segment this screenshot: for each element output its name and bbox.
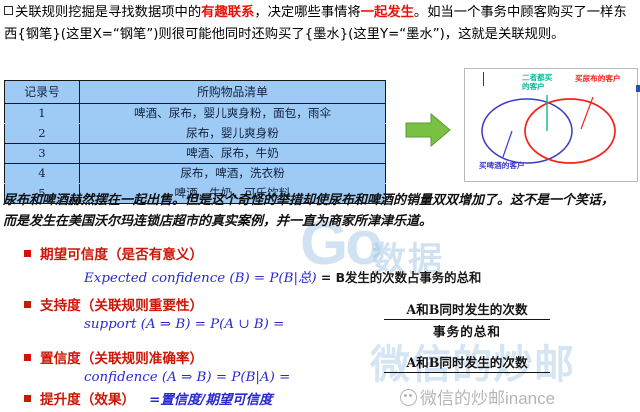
metric-heading: 支持度（关联规则重要性） [24, 294, 284, 314]
metric-block-support: 支持度（关联规则重要性） support (A ⇒ B) = P(A ∪ B) … [24, 294, 284, 332]
venn-label-beer: 买啤酒的客户 [479, 161, 525, 170]
watermark-face-icon [400, 389, 417, 406]
table-cell-items: 啤酒、尿布，牛奶 [80, 144, 386, 164]
metric-heading-label: 置信度（关联规则准确率） [40, 351, 203, 367]
metric-formula-text: support (A ⇒ B) = P(A ∪ B) = [84, 317, 284, 332]
metric-heading-label: 期望可信度（是否有意义） [40, 247, 203, 263]
venn-label-both-line2: 的客户 [522, 82, 545, 91]
table-cell-items: 尿布，啤酒，洗衣粉 [80, 164, 386, 184]
venn-label-both: 二者都买 的客户 [522, 73, 552, 91]
metric-heading: 置信度（关联规则准确率） [24, 347, 290, 367]
watermark-brand: 微信的炒邮inance [400, 384, 555, 409]
fraction-numerator: A和B同时发生的次数 [384, 352, 550, 373]
table-cell-id: 1 [5, 104, 80, 124]
table-cell-id: 4 [5, 164, 80, 184]
metric-block-confidence: 置信度（关联规则准确率） confidence (A ⇒ B) = P(B|A)… [24, 347, 290, 385]
metric-block-lift: 提升度（效果）=置信度/期望可信度 [24, 388, 272, 408]
table-header-record-id: 记录号 [5, 81, 80, 104]
fraction-denominator [384, 373, 550, 374]
solid-square-bullet-icon [24, 301, 31, 308]
table-row: 2 尿布，婴儿爽身粉 [5, 124, 386, 144]
venn-circle-diapers [525, 99, 615, 163]
table-row: 4 尿布，啤酒，洗衣粉 [5, 164, 386, 184]
fraction-support: A和B同时发生的次数 事务的总和 [384, 299, 550, 340]
metric-formula-tail: = B发生的次数占事务的总和 [321, 270, 481, 285]
table-header-items: 所购物品清单 [80, 81, 386, 104]
table-cell-items: 尿布，婴儿爽身粉 [80, 124, 386, 144]
intro-highlight-1: 有趣联系 [201, 5, 254, 20]
metric-formula: Expected confidence (B) = P(B|总) = B发生的次… [84, 266, 481, 286]
fraction-confidence: A和B同时发生的次数 [384, 352, 550, 374]
intro-text-part1: 关联规则挖掘是寻找数据项中的 [15, 5, 201, 20]
transactions-table: 记录号 所购物品清单 1 啤酒、尿布，婴儿爽身粉，面包，雨伞 2 尿布，婴儿爽身… [4, 80, 386, 204]
intro-highlight-2: 一起发生 [361, 5, 414, 20]
metric-formula-text: confidence (A ⇒ B) = P(B|A) = [84, 370, 290, 385]
venn-label-diapers: 买尿布的客户 [575, 74, 621, 83]
intro-text-part2: ，决定哪些事情将 [254, 5, 360, 20]
diagram-handle-dot [636, 85, 640, 92]
fraction-denominator: 事务的总和 [384, 320, 550, 340]
solid-square-bullet-icon [24, 395, 31, 402]
metric-formula: support (A ⇒ B) = P(A ∪ B) = [84, 317, 284, 332]
venn-label-both-line1: 二者都买 [522, 73, 552, 82]
table-cell-id: 3 [5, 144, 80, 164]
metric-block-expected-confidence: 期望可信度（是否有意义） Expected confidence (B) = P… [24, 243, 481, 286]
solid-square-bullet-icon [24, 250, 31, 257]
story-line-2: 而是发生在美国沃尔玛连锁店超市的真实案例，并一直为商家所津津乐道。 [3, 211, 639, 232]
metric-heading: 期望可信度（是否有意义） [24, 243, 481, 263]
metric-formula: confidence (A ⇒ B) = P(B|A) = [84, 370, 290, 385]
fraction-numerator: A和B同时发生的次数 [384, 299, 550, 320]
table-cell-items: 啤酒、尿布，婴儿爽身粉，面包，雨伞 [80, 104, 386, 124]
table-row: 3 啤酒、尿布，牛奶 [5, 144, 386, 164]
story-line-1: 尿布和啤酒赫然摆在一起出售。但是这个奇怪的举措却使尿布和啤酒的销量双双增加了。这… [3, 190, 639, 211]
metric-heading: 提升度（效果）=置信度/期望可信度 [24, 388, 272, 408]
green-right-arrow-icon [404, 112, 452, 148]
diagram-tick-mark [483, 72, 484, 86]
venn-diagram-panel: 二者都买 的客户 买尿布的客户 买啤酒的客户 [464, 68, 638, 182]
solid-square-bullet-icon [24, 354, 31, 361]
story-paragraph: 尿布和啤酒赫然摆在一起出售。但是这个奇怪的举措却使尿布和啤酒的销量双双增加了。这… [3, 190, 639, 232]
venn-leader-beer [503, 131, 512, 157]
venn-circle-beer [482, 99, 572, 163]
metric-heading-label: 提升度（效果） [40, 392, 135, 408]
intro-paragraph: 关联规则挖掘是寻找数据项中的有趣联系，决定哪些事情将一起发生。如当一个事务中顾客… [4, 2, 638, 46]
table-cell-id: 2 [5, 124, 80, 144]
watermark-brand-label: 微信的炒邮inance [420, 389, 555, 408]
hollow-square-bullet-icon [4, 6, 13, 15]
metric-formula-text: Expected confidence (B) = P(B|总) [84, 271, 317, 286]
metric-heading-label: 支持度（关联规则重要性） [40, 298, 203, 314]
table-header-row: 记录号 所购物品清单 [5, 81, 386, 104]
table-row: 1 啤酒、尿布，婴儿爽身粉，面包，雨伞 [5, 104, 386, 124]
metric-inline-formula: =置信度/期望可信度 [149, 388, 272, 408]
